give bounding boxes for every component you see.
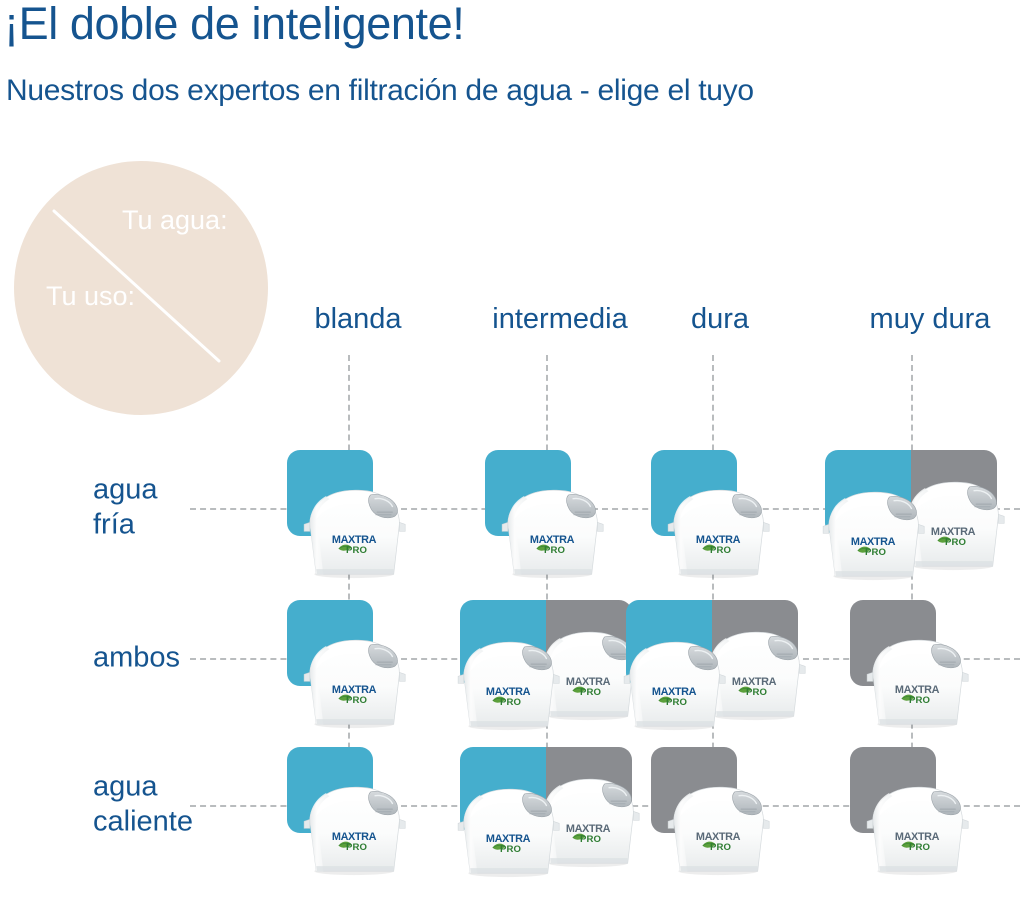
row-label-ambos: ambos: [93, 640, 180, 675]
page-title: ¡El doble de inteligente!: [4, 0, 464, 50]
svg-text:PRO: PRO: [909, 695, 931, 706]
cartridge-maxtra-pro-all-in-1: MAXTRA PRO: [444, 636, 572, 737]
svg-text:PRO: PRO: [346, 842, 368, 853]
cartridge-maxtra-pro-all-in-1: MAXTRA PRO: [290, 781, 418, 882]
svg-text:PRO: PRO: [544, 545, 566, 556]
filter-cartridge-icon: MAXTRA PRO: [853, 781, 981, 877]
svg-text:PRO: PRO: [710, 545, 732, 556]
svg-text:PRO: PRO: [909, 842, 931, 853]
column-header-intermedia: intermedia: [492, 303, 627, 336]
filter-cartridge-icon: MAXTRA PRO: [654, 781, 782, 877]
cartridge-maxtra-pro-all-in-1: MAXTRA PRO: [809, 486, 937, 587]
svg-text:MAXTRA: MAXTRA: [851, 536, 896, 548]
cartridge-maxtra-pro-all-in-1: MAXTRA PRO: [654, 484, 782, 585]
filter-cartridge-icon: MAXTRA PRO: [610, 636, 738, 732]
row-label-agua_fria: agua fría: [93, 473, 158, 544]
filter-cartridge-icon: MAXTRA PRO: [444, 636, 572, 732]
cartridge-maxtra-pro-all-in-1: MAXTRA PRO: [290, 484, 418, 585]
svg-text:MAXTRA: MAXTRA: [931, 526, 976, 538]
cartridge-maxtra-pro-all-in-1: MAXTRA PRO: [610, 636, 738, 737]
cartridge-maxtra-pro-hard-water-expert: MAXTRA PRO: [853, 781, 981, 882]
column-header-muy_dura: muy dura: [870, 303, 991, 336]
filter-cartridge-icon: MAXTRA PRO: [654, 484, 782, 580]
svg-text:MAXTRA: MAXTRA: [696, 831, 741, 843]
matrix-cell-ambos-muy_dura[interactable]: MAXTRA PRO: [791, 578, 1024, 738]
legend-water-axis-label: Tu agua:: [122, 203, 242, 238]
page-subtitle: Nuestros dos expertos en filtración de a…: [6, 74, 754, 108]
svg-text:PRO: PRO: [346, 695, 368, 706]
cartridge-maxtra-pro-all-in-1: MAXTRA PRO: [290, 634, 418, 735]
filter-cartridge-icon: MAXTRA PRO: [290, 634, 418, 730]
filter-cartridge-icon: MAXTRA PRO: [290, 484, 418, 580]
svg-text:PRO: PRO: [746, 687, 768, 698]
svg-text:MAXTRA: MAXTRA: [652, 686, 697, 698]
filter-cartridge-icon: MAXTRA PRO: [809, 486, 937, 582]
svg-text:PRO: PRO: [666, 697, 688, 708]
matrix-cell-agua_caliente-muy_dura[interactable]: MAXTRA PRO: [791, 725, 1024, 885]
cartridge-maxtra-pro-hard-water-expert: MAXTRA PRO: [853, 634, 981, 735]
filter-cartridge-icon: MAXTRA PRO: [853, 634, 981, 730]
row-label-agua_caliente: agua caliente: [93, 770, 193, 841]
legend-circle: Tu agua: Tu uso:: [14, 161, 268, 415]
svg-text:MAXTRA: MAXTRA: [332, 831, 377, 843]
svg-text:PRO: PRO: [710, 842, 732, 853]
svg-text:MAXTRA: MAXTRA: [895, 684, 940, 696]
svg-text:MAXTRA: MAXTRA: [696, 534, 741, 546]
svg-text:MAXTRA: MAXTRA: [530, 534, 575, 546]
cartridge-maxtra-pro-hard-water-expert: MAXTRA PRO: [654, 781, 782, 882]
svg-text:MAXTRA: MAXTRA: [895, 831, 940, 843]
svg-text:MAXTRA: MAXTRA: [732, 676, 777, 688]
filter-cartridge-icon: MAXTRA PRO: [290, 781, 418, 877]
svg-text:MAXTRA: MAXTRA: [486, 686, 531, 698]
svg-text:PRO: PRO: [346, 545, 368, 556]
svg-text:MAXTRA: MAXTRA: [486, 833, 531, 845]
filter-cartridge-icon: MAXTRA PRO: [444, 783, 572, 879]
matrix-cell-agua_fria-muy_dura[interactable]: MAXTRA PRO: [791, 428, 1024, 588]
column-header-blanda: blanda: [314, 303, 401, 336]
svg-text:PRO: PRO: [500, 844, 522, 855]
svg-text:PRO: PRO: [500, 697, 522, 708]
svg-text:PRO: PRO: [865, 547, 887, 558]
legend-use-axis-label: Tu uso:: [46, 279, 166, 314]
svg-text:MAXTRA: MAXTRA: [332, 534, 377, 546]
column-header-dura: dura: [691, 303, 749, 336]
cartridge-maxtra-pro-all-in-1: MAXTRA PRO: [444, 783, 572, 884]
svg-text:PRO: PRO: [945, 537, 967, 548]
svg-text:MAXTRA: MAXTRA: [332, 684, 377, 696]
